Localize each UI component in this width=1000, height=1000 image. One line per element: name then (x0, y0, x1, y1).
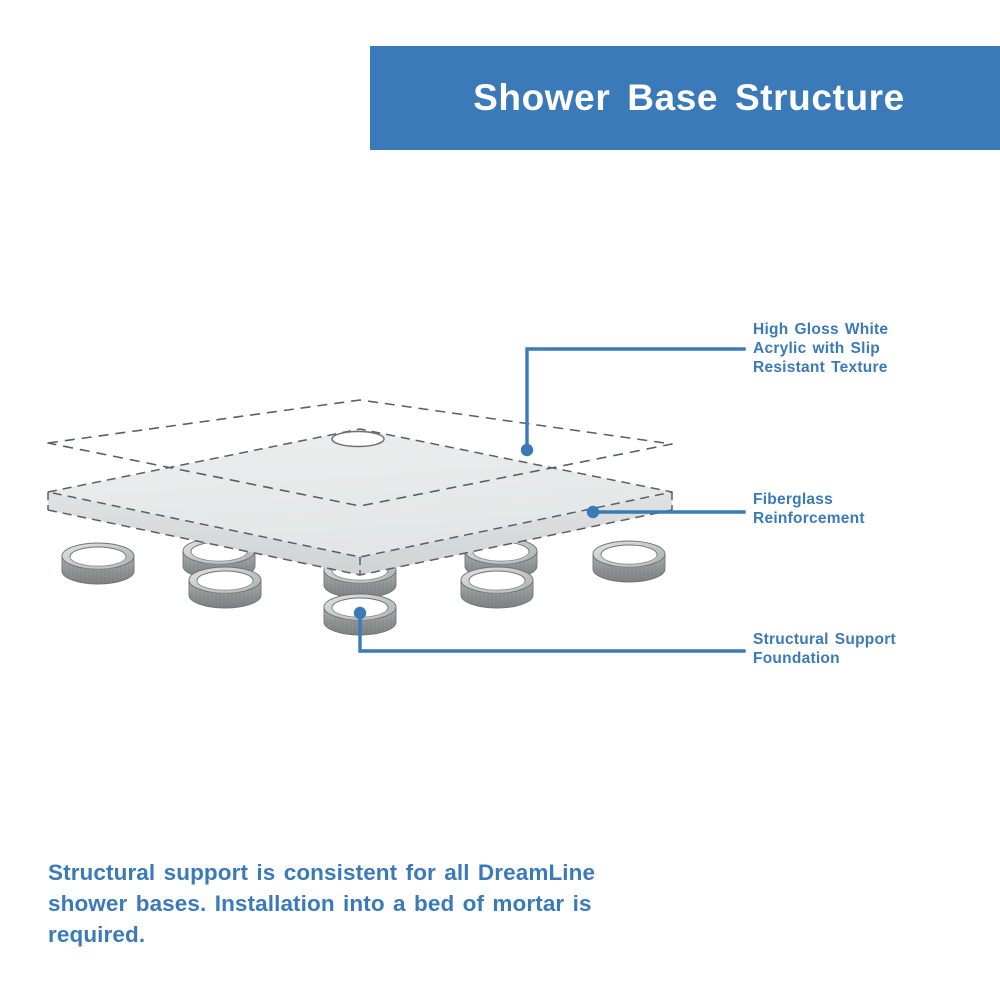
support-ring (62, 543, 134, 584)
fiberglass-layer (48, 429, 672, 575)
callout-leaders (360, 349, 744, 651)
support-ring (324, 557, 396, 598)
callout-label-fiberglass: Fiberglass Reinforcement (753, 490, 865, 528)
callout-label-acrylic: High Gloss White Acrylic with Slip Resis… (753, 320, 888, 377)
page-title: Shower Base Structure (473, 77, 905, 119)
anchor-dot-fiberglass (587, 506, 599, 518)
support-ring (324, 594, 396, 635)
support-ring (461, 567, 533, 608)
support-ring-array (62, 538, 665, 635)
footer-caption: Structural support is consistent for all… (48, 857, 668, 950)
anchor-dot-support (354, 607, 366, 619)
header-banner: Shower Base Structure (370, 46, 1000, 150)
support-ring (465, 538, 537, 579)
callout-anchor-dots (354, 444, 599, 619)
support-ring (593, 541, 665, 582)
callout-label-support: Structural Support Foundation (753, 630, 896, 668)
drain-opening-icon (332, 432, 384, 447)
support-ring (189, 567, 261, 608)
support-ring (183, 538, 255, 579)
anchor-dot-acrylic (521, 444, 533, 456)
leader-line-support (360, 613, 744, 651)
acrylic-top-layer (48, 400, 672, 506)
leader-line-acrylic (527, 349, 744, 450)
